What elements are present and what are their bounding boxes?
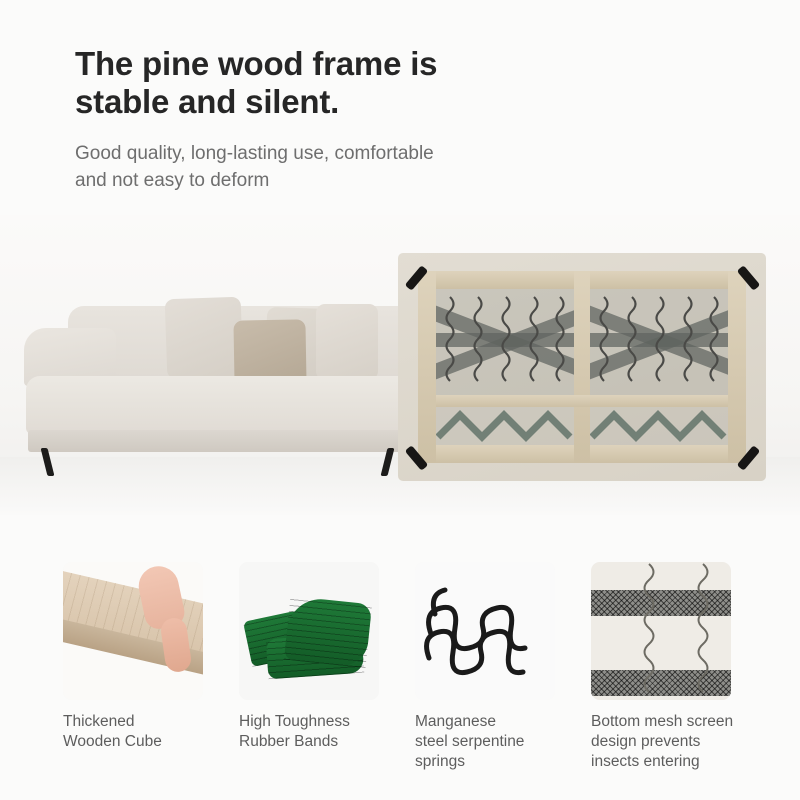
feature-item: Bottom mesh screen design prevents insec… xyxy=(580,548,756,772)
hero-product-image xyxy=(0,215,800,515)
sofa-leg xyxy=(41,448,55,476)
feature-thumbnail-row: Thickened Wooden Cube High Toughness Rub… xyxy=(0,548,800,800)
mesh-screen-thumbnail xyxy=(591,562,731,700)
sofa-seat xyxy=(26,376,412,434)
spring-overlay-icon xyxy=(591,562,731,700)
frame-center-rail xyxy=(574,271,590,463)
zigzag-band-icon xyxy=(436,407,574,445)
feature-item: Thickened Wooden Cube xyxy=(52,548,228,752)
product-infographic: The pine wood frame is stable and silent… xyxy=(0,0,800,800)
page-subtitle: Good quality, long-lasting use, comforta… xyxy=(75,140,695,194)
frame-lower-bay xyxy=(590,407,728,445)
sofa-cushion xyxy=(165,297,244,380)
frame-rail xyxy=(728,271,746,463)
sofa-cushion xyxy=(316,304,378,380)
rubber-band-icon xyxy=(284,596,372,668)
green-rubber-bands-thumbnail xyxy=(239,562,379,700)
frame-lower-bay xyxy=(436,407,574,445)
frame-rail xyxy=(418,271,436,463)
sofa-photo xyxy=(18,270,418,485)
sofa-base xyxy=(28,430,410,452)
serpentine-spring-icon xyxy=(415,562,555,700)
feature-caption: High Toughness Rubber Bands xyxy=(239,712,401,752)
frame-cutaway-photo xyxy=(398,253,766,481)
feature-caption: Manganese steel serpentine springs xyxy=(415,712,577,772)
feature-item: Manganese steel serpentine springs xyxy=(404,548,580,772)
frame-bay xyxy=(436,289,574,395)
zigzag-band-icon xyxy=(590,407,728,445)
frame-cross-rail xyxy=(436,395,728,407)
page-title: The pine wood frame is stable and silent… xyxy=(75,45,715,121)
wooden-board-thumbnail xyxy=(63,562,203,700)
feature-item: High Toughness Rubber Bands xyxy=(228,548,404,752)
serpentine-springs-icon xyxy=(436,289,574,395)
feature-caption: Bottom mesh screen design prevents insec… xyxy=(591,712,753,772)
serpentine-springs-icon xyxy=(590,289,728,395)
frame-bay xyxy=(590,289,728,395)
feature-caption: Thickened Wooden Cube xyxy=(63,712,225,752)
serpentine-springs-thumbnail xyxy=(415,562,555,700)
sofa-leg xyxy=(381,448,395,476)
